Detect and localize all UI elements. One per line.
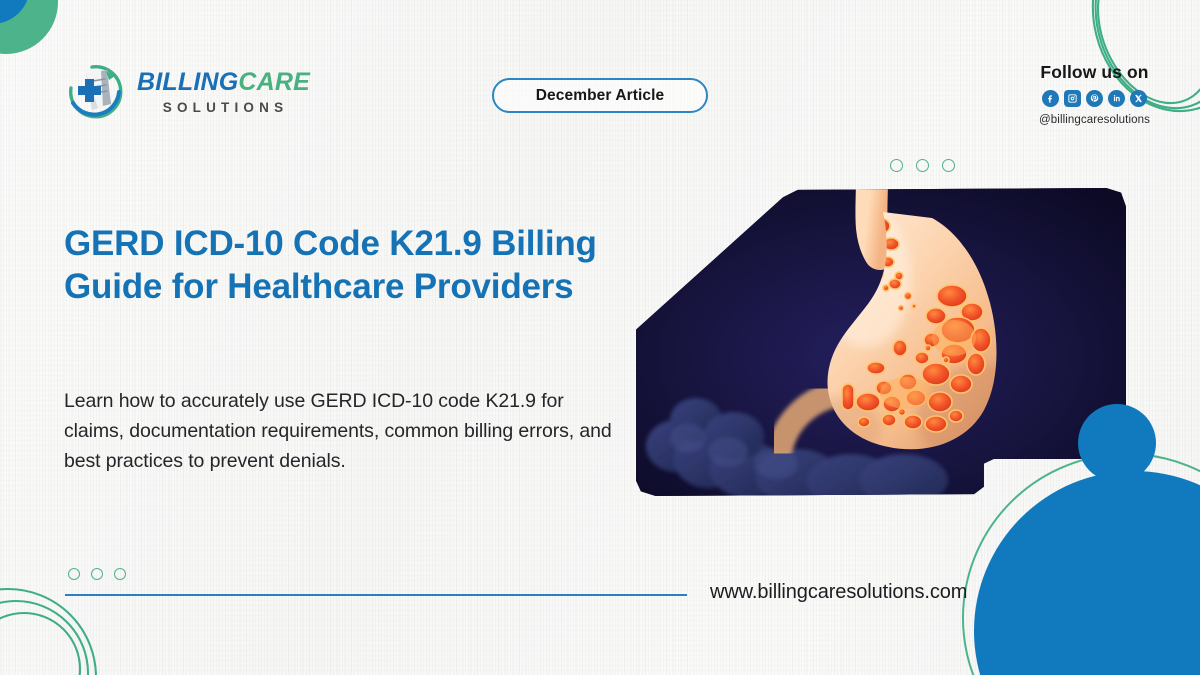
dot-ring-icon bbox=[68, 568, 80, 580]
social-follow-title: Follow us on bbox=[1007, 62, 1182, 83]
facebook-icon[interactable] bbox=[1042, 90, 1059, 107]
footer-dots-decoration bbox=[68, 568, 126, 580]
social-icon-list bbox=[1007, 90, 1182, 107]
social-follow-block: Follow us on @billingcaresolutions bbox=[1007, 62, 1182, 126]
x-twitter-icon[interactable] bbox=[1130, 90, 1147, 107]
bottom-right-teal-outline-decoration bbox=[962, 453, 1200, 675]
logo-name-secondary: CARE bbox=[238, 68, 310, 96]
page-description: Learn how to accurately use GERD ICD-10 … bbox=[64, 386, 624, 476]
image-accent-circle-decoration bbox=[1078, 404, 1156, 482]
article-month-badge[interactable]: December Article bbox=[492, 78, 708, 113]
logo-tagline: SOLUTIONS bbox=[137, 101, 310, 115]
footer-divider bbox=[65, 594, 687, 596]
top-left-green-ring-decoration bbox=[0, 0, 58, 54]
stomach-gerd-inflammation-illustration bbox=[636, 188, 1126, 496]
dot-ring-icon bbox=[916, 159, 929, 172]
dot-ring-icon bbox=[942, 159, 955, 172]
bottom-right-blue-blob-decoration bbox=[974, 471, 1200, 675]
page-title: GERD ICD-10 Code K21.9 Billing Guide for… bbox=[64, 222, 639, 308]
article-month-badge-label: December Article bbox=[536, 87, 665, 105]
website-url[interactable]: www.billingcaresolutions.com bbox=[710, 581, 967, 604]
bottom-left-arcs-decoration bbox=[0, 541, 158, 675]
linkedin-icon[interactable] bbox=[1108, 90, 1125, 107]
instagram-icon[interactable] bbox=[1064, 90, 1081, 107]
brand-logo[interactable]: BILLINGCARE SOLUTIONS bbox=[62, 58, 310, 124]
social-handle: @billingcaresolutions bbox=[1007, 114, 1182, 126]
medical-document-cross-icon bbox=[62, 58, 128, 124]
dot-ring-icon bbox=[91, 568, 103, 580]
dot-ring-icon bbox=[890, 159, 903, 172]
pinterest-icon[interactable] bbox=[1086, 90, 1103, 107]
image-dots-decoration bbox=[890, 159, 955, 172]
logo-name-primary: BILLING bbox=[137, 68, 238, 96]
poster-canvas: BILLINGCARE SOLUTIONS December Article F… bbox=[0, 0, 1200, 675]
dot-ring-icon bbox=[114, 568, 126, 580]
top-left-blue-dot-decoration bbox=[0, 0, 30, 24]
